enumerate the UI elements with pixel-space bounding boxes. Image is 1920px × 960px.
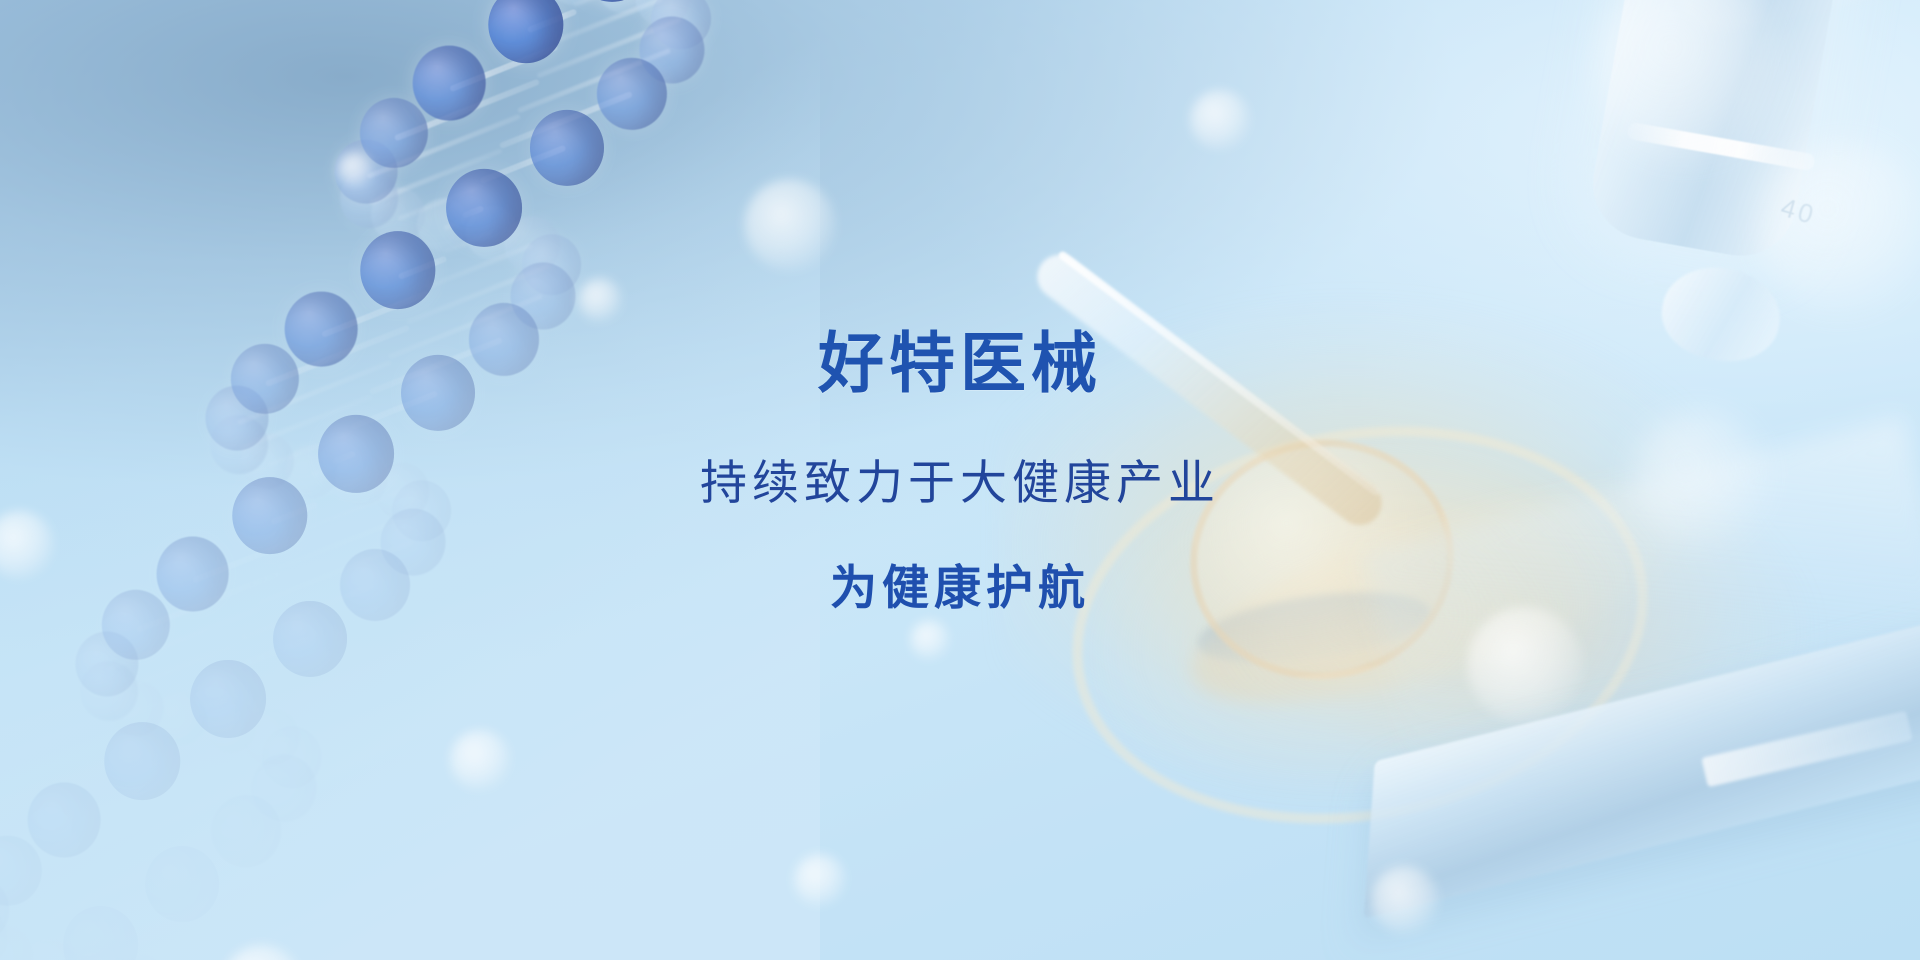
hero-banner: 40 好特医械 持续致力于大健康产业 为健康护航 bbox=[0, 0, 1920, 960]
page-title: 好特医械 bbox=[0, 330, 1920, 396]
hero-subtitle: 持续致力于大健康产业 bbox=[0, 459, 1920, 506]
hero-tagline: 为健康护航 bbox=[0, 564, 1920, 611]
hero-copy: 好特医械 持续致力于大健康产业 为健康护航 bbox=[0, 330, 1920, 611]
